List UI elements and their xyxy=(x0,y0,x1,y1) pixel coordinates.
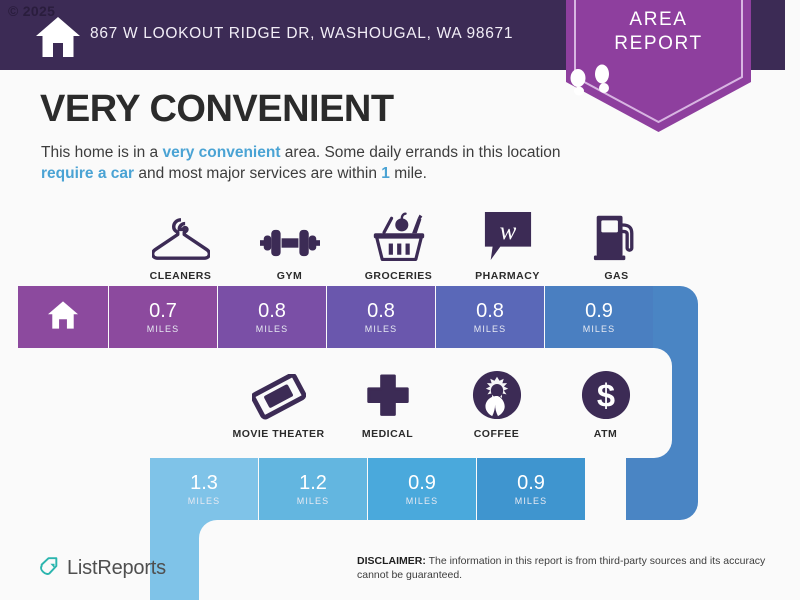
area-report-ribbon: AREA REPORT xyxy=(566,0,751,132)
summary-highlight-2: require a car xyxy=(41,165,134,182)
distance-unit: MILES xyxy=(256,324,289,334)
distance-unit: MILES xyxy=(583,324,616,334)
svg-text:w: w xyxy=(499,218,516,245)
hanger-icon xyxy=(152,210,210,262)
summary-part-1: This home is in a xyxy=(41,144,162,161)
band-home-cell xyxy=(18,286,108,348)
distance-value: 0.7 xyxy=(149,301,177,321)
summary-highlight-3: 1 xyxy=(381,165,390,182)
distance-unit: MILES xyxy=(406,496,439,506)
distance-unit: MILES xyxy=(297,496,330,506)
distance-cell-gym: 0.8MILES xyxy=(218,286,326,348)
distance-unit: MILES xyxy=(147,324,180,334)
distance-unit: MILES xyxy=(188,496,221,506)
ticket-icon xyxy=(252,368,306,420)
category-pharmacy: wPHARMACY xyxy=(453,210,562,282)
svg-text:$: $ xyxy=(596,377,614,414)
distance-value: 0.8 xyxy=(476,301,504,321)
category-label: COFFEE xyxy=(474,428,520,440)
distance-unit: MILES xyxy=(365,324,398,334)
ribbon-title: AREA REPORT xyxy=(566,8,751,56)
summary-text: This home is in a very convenient area. … xyxy=(41,142,571,184)
category-atm: $ATM xyxy=(551,368,660,440)
listreports-wordmark: ListReports xyxy=(67,557,166,580)
listreports-tag-icon xyxy=(38,555,60,582)
category-gym: GYM xyxy=(235,210,344,282)
distance-cell-coffee: 0.9MILES xyxy=(368,458,476,520)
footprints-icon xyxy=(566,64,751,98)
lower-category-icons: MOVIE THEATERMEDICALCOFFEE$ATM xyxy=(224,368,660,440)
lower-distance-band: 1.3MILES1.2MILES0.9MILES0.9MILES xyxy=(150,458,698,520)
page-title: VERY CONVENIENT xyxy=(40,88,394,131)
category-coffee: COFFEE xyxy=(442,368,551,440)
distance-cell-groceries: 0.8MILES xyxy=(327,286,435,348)
category-label: GYM xyxy=(277,270,302,282)
distance-cell-atm: 0.9MILES xyxy=(477,458,585,520)
header-home-icon xyxy=(35,16,81,58)
ribbon-line-2: REPORT xyxy=(566,32,751,56)
band-left-notch xyxy=(199,520,259,600)
category-label: ATM xyxy=(594,428,617,440)
category-gas: GAS xyxy=(562,210,671,282)
dumbbell-icon xyxy=(260,210,320,262)
dollar-circle-icon: $ xyxy=(581,368,631,420)
distance-cell-movie-theater: 1.3MILES xyxy=(150,458,258,520)
medical-cross-icon xyxy=(365,368,411,420)
category-label: MEDICAL xyxy=(362,428,413,440)
distance-cell-medical: 1.2MILES xyxy=(259,458,367,520)
walgreens-w-icon: w xyxy=(483,210,533,262)
home-icon xyxy=(46,300,80,335)
distance-value: 0.9 xyxy=(517,473,545,493)
upper-distance-band: 0.7MILES0.8MILES0.8MILES0.8MILES0.9MILES xyxy=(18,286,698,348)
category-movie-theater: MOVIE THEATER xyxy=(224,368,333,440)
summary-part-4: mile. xyxy=(390,165,427,182)
area-report-page: © 2025 867 W LOOKOUT RIDGE DR, WASHOUGAL… xyxy=(0,0,800,600)
distance-value: 1.3 xyxy=(190,473,218,493)
disclaimer-label: DISCLAIMER: xyxy=(357,555,426,567)
distance-value: 1.2 xyxy=(299,473,327,493)
summary-part-2: area. Some daily errands in this locatio… xyxy=(281,144,561,161)
category-groceries: GROCERIES xyxy=(344,210,453,282)
summary-part-3: and most major services are within xyxy=(134,165,381,182)
category-label: CLEANERS xyxy=(150,270,212,282)
upper-category-icons: CLEANERSGYMGROCERIESwPHARMACYGAS xyxy=(126,210,671,282)
category-cleaners: CLEANERS xyxy=(126,210,235,282)
distance-value: 0.8 xyxy=(258,301,286,321)
category-label: GAS xyxy=(604,270,628,282)
category-label: MOVIE THEATER xyxy=(232,428,324,440)
listreports-logo: ListReports xyxy=(38,555,166,582)
grocery-basket-icon xyxy=(371,210,427,262)
gas-pump-icon xyxy=(593,210,641,262)
starbucks-siren-icon xyxy=(472,368,522,420)
distance-cell-gas: 0.9MILES xyxy=(545,286,653,348)
distance-unit: MILES xyxy=(515,496,548,506)
category-medical: MEDICAL xyxy=(333,368,442,440)
disclaimer: DISCLAIMER: The information in this repo… xyxy=(357,554,777,582)
distance-value: 0.9 xyxy=(585,301,613,321)
summary-highlight-1: very convenient xyxy=(162,144,280,161)
ribbon-line-1: AREA xyxy=(566,8,751,32)
property-address: 867 W LOOKOUT RIDGE DR, WASHOUGAL, WA 98… xyxy=(90,25,513,43)
distance-value: 0.8 xyxy=(367,301,395,321)
distance-cell-pharmacy: 0.8MILES xyxy=(436,286,544,348)
category-label: GROCERIES xyxy=(365,270,433,282)
copyright-watermark: © 2025 xyxy=(8,3,55,19)
distance-cell-cleaners: 0.7MILES xyxy=(109,286,217,348)
distance-value: 0.9 xyxy=(408,473,436,493)
category-label: PHARMACY xyxy=(475,270,540,282)
distance-unit: MILES xyxy=(474,324,507,334)
